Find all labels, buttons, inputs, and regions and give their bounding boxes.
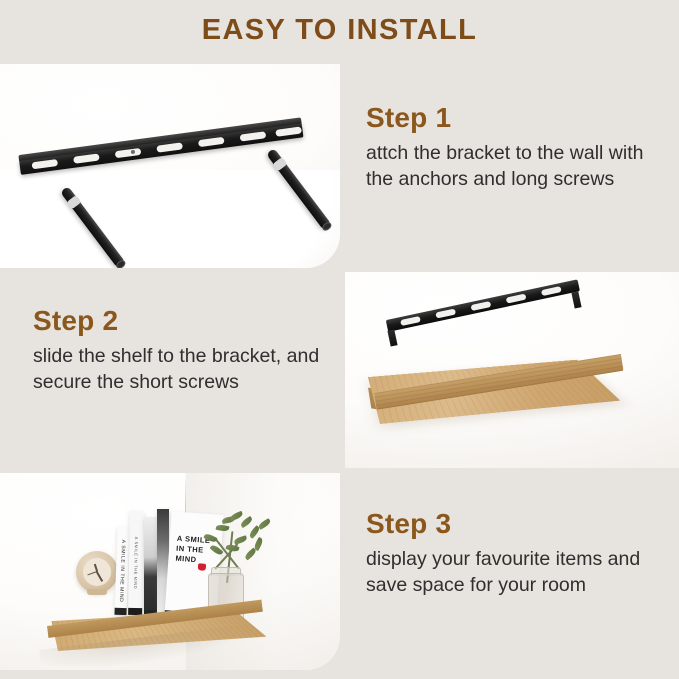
rod-collar-right — [272, 157, 287, 171]
plant-leaf — [257, 518, 271, 530]
styled-shelf-illustration: A SMILE IN THE MIND A SMILE IN THE MIND … — [0, 473, 340, 670]
bracket-slot — [240, 131, 267, 141]
bracket-slot — [198, 137, 225, 147]
clock-stand — [87, 589, 107, 595]
wooden-clock — [76, 551, 118, 593]
plant-leaf — [244, 548, 258, 561]
book-spine-2: A SMILE IN THE MIND — [128, 511, 144, 615]
shelf-bracket — [386, 279, 580, 331]
step-1-image-panel — [0, 64, 340, 268]
step-2-image-panel — [345, 272, 679, 468]
wall-bracket-illustration — [12, 126, 332, 256]
bracket-foot-left — [387, 329, 397, 346]
infographic-page: EASY TO INSTALL — [0, 0, 679, 679]
bracket-rod-left — [60, 186, 126, 268]
bracket-rod-right — [266, 148, 332, 231]
bracket-slot — [156, 142, 183, 152]
book-spine-title: A SMILE IN THE MIND — [118, 540, 126, 603]
step-1-body: attch the bracket to the wall with the a… — [366, 140, 666, 192]
step-3-heading: Step 3 — [366, 508, 671, 540]
step-3-body: display your favourite items and save sp… — [366, 546, 671, 598]
book-bottom-band — [114, 608, 126, 615]
bracket-slot — [73, 153, 100, 163]
rod-cap-right — [321, 221, 333, 233]
book-spine-title: A SMILE IN THE MIND — [133, 537, 139, 590]
heart-icon — [198, 563, 206, 571]
book-title-line-3: MIND — [175, 554, 197, 564]
step-2-heading: Step 2 — [33, 305, 333, 337]
bracket-slot — [31, 159, 58, 169]
rod-collar-left — [66, 195, 81, 209]
bracket-slot — [115, 148, 142, 158]
bracket-slot — [275, 126, 302, 136]
bracket-slot — [435, 309, 456, 319]
bracket-slot — [506, 294, 527, 304]
shelf-with-bracket-illustration — [345, 272, 679, 468]
plant-leaf — [229, 511, 243, 521]
step-2-body: slide the shelf to the bracket, and secu… — [33, 343, 333, 395]
book-spine-3 — [144, 517, 157, 617]
bracket-bar — [19, 122, 303, 175]
book-title-line-2: IN THE — [176, 544, 204, 555]
book-spine-1: A SMILE IN THE MIND — [114, 527, 129, 615]
bracket-slot — [470, 301, 491, 311]
step-1-text-block: Step 1 attch the bracket to the wall wit… — [366, 102, 666, 192]
step-3-image-panel: A SMILE IN THE MIND A SMILE IN THE MIND … — [0, 473, 340, 670]
bracket-slot — [400, 316, 421, 326]
step-1-heading: Step 1 — [366, 102, 666, 134]
plant-leaf — [233, 535, 247, 544]
page-title: EASY TO INSTALL — [0, 14, 679, 47]
bracket-slot — [541, 286, 562, 296]
plant-leaf — [239, 516, 253, 528]
step-3-text-block: Step 3 display your favourite items and … — [366, 508, 671, 598]
bracket-foot-right — [571, 291, 581, 308]
step-2-text-block: Step 2 slide the shelf to the bracket, a… — [33, 305, 333, 395]
